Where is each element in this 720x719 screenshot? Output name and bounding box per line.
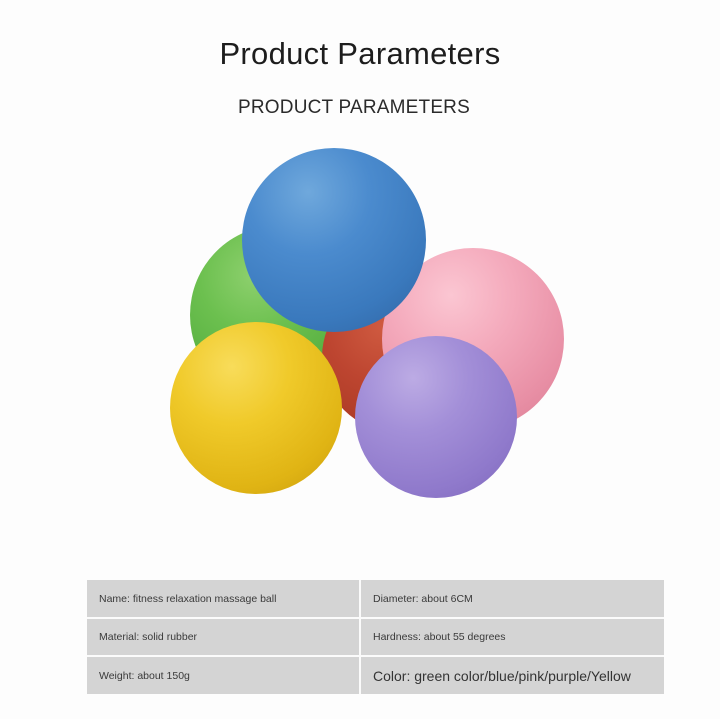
product-image	[0, 130, 720, 530]
product-parameters-page: Product Parameters PRODUCT PARAMETERS Na…	[0, 0, 720, 719]
table-row: Name: fitness relaxation massage ball Di…	[87, 580, 664, 618]
blue-ball	[242, 148, 426, 332]
yellow-ball	[170, 322, 342, 494]
table-row: Weight: about 150g Color: green color/bl…	[87, 656, 664, 694]
spec-cell-color: Color: green color/blue/pink/purple/Yell…	[360, 656, 664, 694]
page-subtitle: PRODUCT PARAMETERS	[0, 97, 720, 119]
spec-cell-hardness: Hardness: about 55 degrees	[360, 618, 664, 656]
spec-cell-material: Material: solid rubber	[87, 618, 360, 656]
purple-ball	[355, 336, 517, 498]
spec-cell-weight: Weight: about 150g	[87, 656, 360, 694]
table-row: Material: solid rubber Hardness: about 5…	[87, 618, 664, 656]
spec-table: Name: fitness relaxation massage ball Di…	[87, 580, 664, 694]
page-title: Product Parameters	[0, 37, 720, 71]
page-subtitle-text: PRODUCT PARAMETERS	[238, 97, 470, 119]
spec-cell-diameter: Diameter: about 6CM	[360, 580, 664, 618]
spec-cell-name: Name: fitness relaxation massage ball	[87, 580, 360, 618]
